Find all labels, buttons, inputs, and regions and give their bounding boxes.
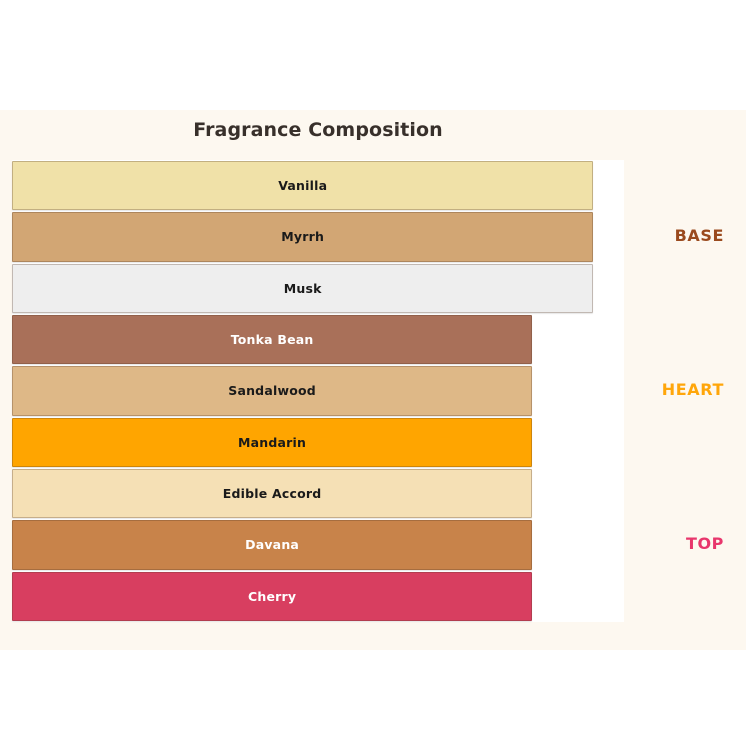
fragrance-composition-figure: Fragrance Composition VanillaMyrrhMuskTo… — [0, 0, 746, 746]
bar-tonka-bean[interactable]: Tonka Bean — [12, 315, 532, 364]
bar-sandalwood[interactable]: Sandalwood — [12, 366, 532, 415]
group-label-base: BASE — [604, 226, 724, 245]
bar-label: Sandalwood — [13, 367, 531, 414]
group-label-top: TOP — [604, 534, 724, 553]
bar-label: Tonka Bean — [13, 316, 531, 363]
bar-label: Musk — [13, 265, 592, 312]
bar-label: Cherry — [13, 573, 531, 620]
bar-label: Vanilla — [13, 162, 592, 209]
bar-cherry[interactable]: Cherry — [12, 572, 532, 621]
bar-davana[interactable]: Davana — [12, 520, 532, 569]
bar-myrrh[interactable]: Myrrh — [12, 212, 593, 261]
plot-area: VanillaMyrrhMuskTonka BeanSandalwoodMand… — [12, 160, 624, 622]
chart-title: Fragrance Composition — [0, 119, 636, 141]
bar-mandarin[interactable]: Mandarin — [12, 418, 532, 467]
bar-vanilla[interactable]: Vanilla — [12, 161, 593, 210]
bar-label: Edible Accord — [13, 470, 531, 517]
group-label-heart: HEART — [604, 380, 724, 399]
bar-label: Mandarin — [13, 419, 531, 466]
bar-label: Davana — [13, 521, 531, 568]
bar-label: Myrrh — [13, 213, 592, 260]
bar-musk[interactable]: Musk — [12, 264, 593, 313]
bar-edible-accord[interactable]: Edible Accord — [12, 469, 532, 518]
